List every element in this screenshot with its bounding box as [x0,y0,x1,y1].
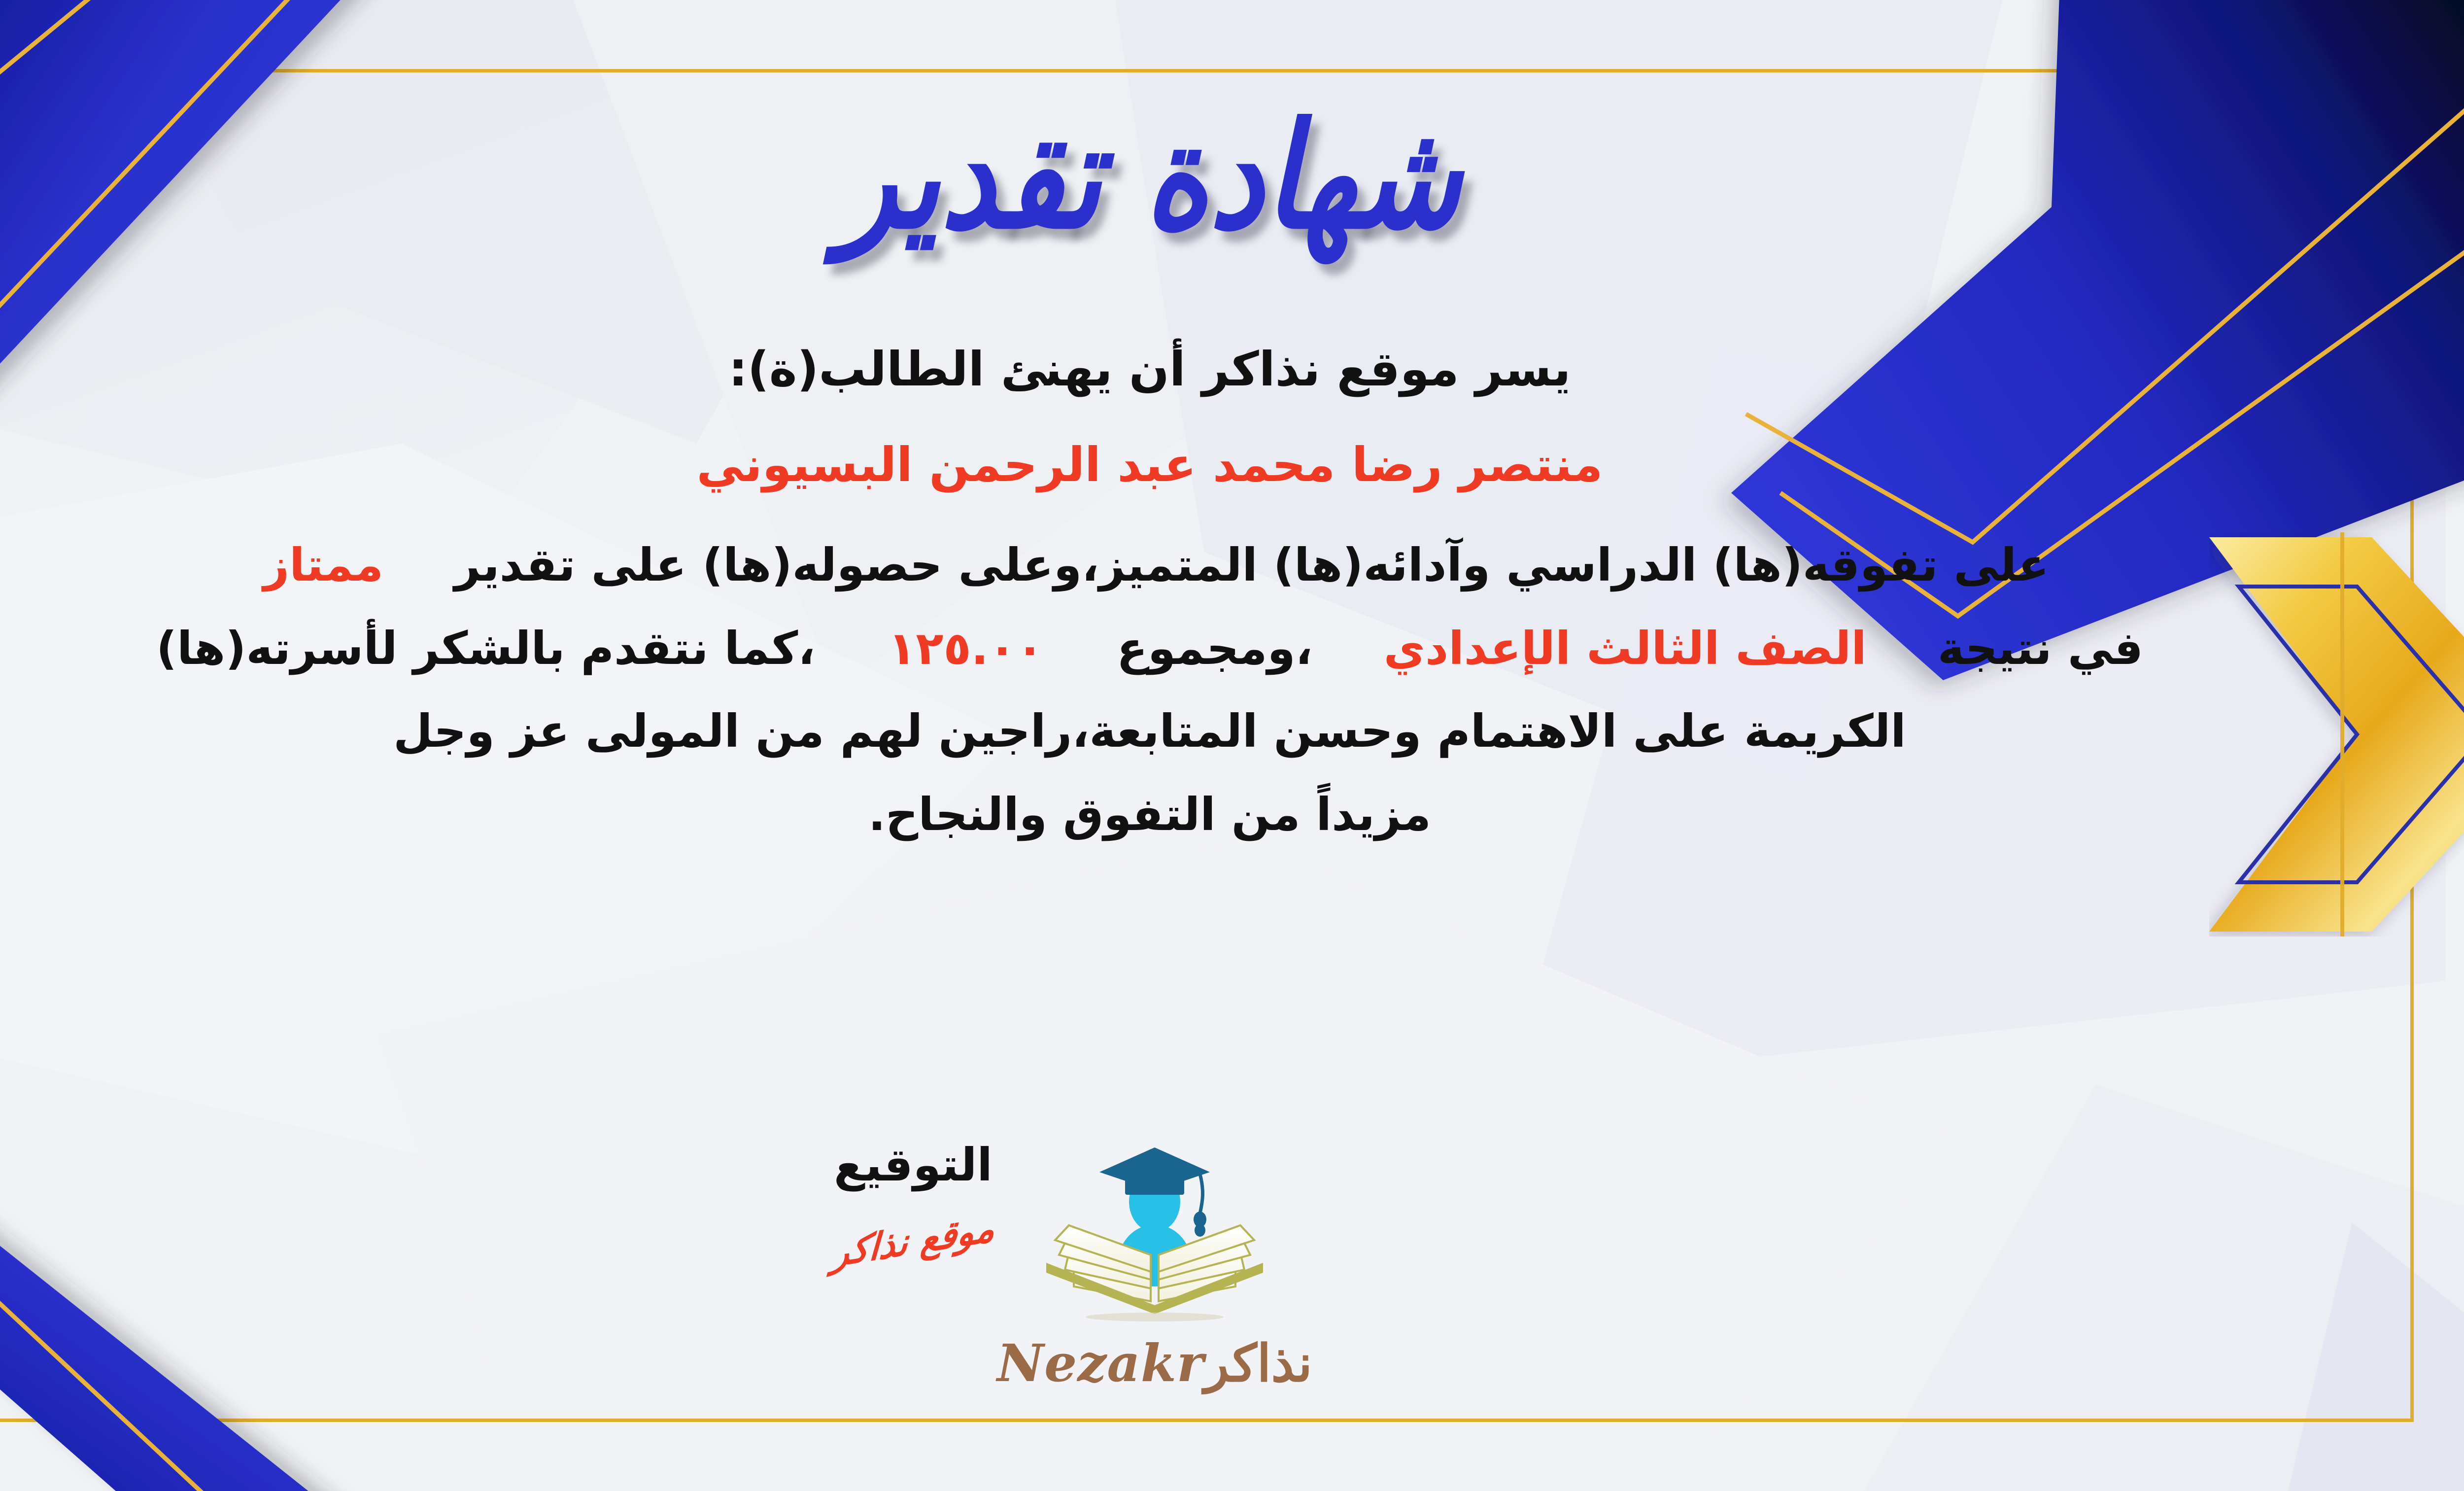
graduation-book-logo-icon [1027,1139,1283,1336]
site-logo: نذاكرNezakr [913,1139,1396,1393]
intro-line: يسر موقع نذاكر أن يهنئ الطالب(ة): [0,333,2387,406]
closing-line: مزيداً من التفوق والنجاح. [0,780,2387,850]
stage-value: الصف الثالث الإعدادي [1384,622,1867,675]
logo-wordmark: نذاكرNezakr [913,1333,1396,1393]
achievement-text: على تفوقه(ها) الدراسي وآدائه(ها) المتميز… [454,539,2049,591]
family-thanks-line: الكريمة على الاهتمام وحسن المتابعة،راجين… [0,696,2387,767]
logo-text-latin: Nezakr [997,1333,1204,1393]
certificate-footer: التوقيع موقع نذاكر [0,1139,2387,1415]
certificate-content: شهادة تقدير يسر موقع نذاكر أن يهنئ الطال… [0,79,2387,1410]
stage-and-score-line: في نتيجة الصف الثالث الإعدادي ،ومجموع ١٢… [0,614,2387,684]
total-score-value: ١٢٥.٠٠ [888,622,1044,675]
certificate-title: شهادة تقدير [0,79,2387,268]
achievement-line: على تفوقه(ها) الدراسي وآدائه(ها) المتميز… [0,530,2387,601]
thanks-prefix: ،كما نتقدم بالشكر لأسرته(ها) [156,622,815,675]
certificate-body: يسر موقع نذاكر أن يهنئ الطالب(ة): منتصر … [0,333,2387,850]
total-prefix: ،ومجموع [1117,622,1313,675]
grade-value: ممتاز [263,539,383,591]
logo-text-arabic: نذاكر [1204,1333,1312,1393]
stage-prefix: في نتيجة [1938,622,2143,675]
student-name: منتصر رضا محمد عبد الرحمن البسيوني [0,428,2387,502]
certificate-page: شهادة تقدير يسر موقع نذاكر أن يهنئ الطال… [0,0,2464,1491]
